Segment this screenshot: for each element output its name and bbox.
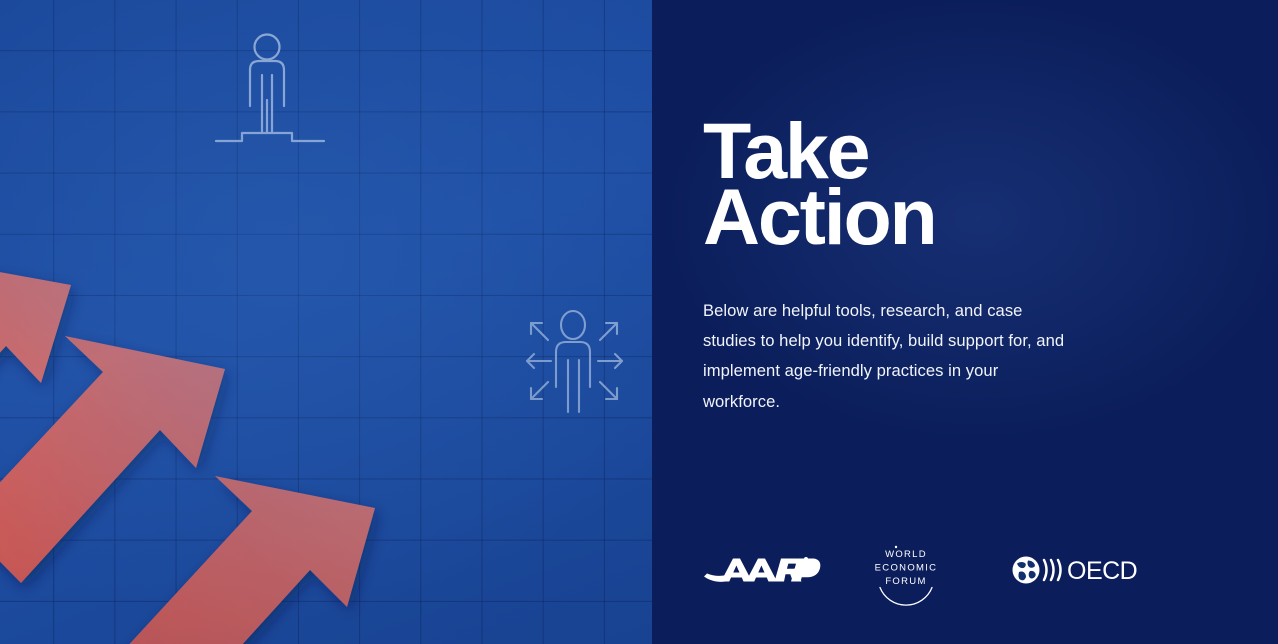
oecd-logo[interactable]: OECD [1007,552,1182,588]
slide-root: Take Action Below are helpful tools, res… [0,0,1278,644]
growth-arrow-3 [112,476,375,644]
registered-trademark-icon [804,557,808,561]
person-on-podium-icon [216,35,324,142]
content-wrapper: Take Action Below are helpful tools, res… [652,0,1278,644]
wef-dot-icon [895,546,897,548]
world-economic-forum-logo[interactable]: WORLD ECONOMIC FORUM [855,545,1007,595]
wave-chevrons-icon [1044,560,1061,580]
aarp-logo[interactable] [703,553,855,587]
page-subtitle: Below are helpful tools, research, and c… [703,296,1071,417]
partner-logo-bar: WORLD ECONOMIC FORUM [703,542,1223,598]
person-expand-arrows-icon [527,311,622,412]
globe-icon [1013,557,1040,584]
page-title: Take Action [703,118,936,251]
wef-arc-icon [880,588,932,606]
content-panel: Take Action Below are helpful tools, res… [652,0,1278,644]
oecd-wordmark: OECD [1067,557,1137,585]
illustration-artwork [0,0,652,644]
wef-line-3: FORUM [885,576,926,587]
illustration-panel [0,0,652,644]
wef-line-1: WORLD [885,549,927,560]
wef-line-2: ECONOMIC [875,563,938,574]
